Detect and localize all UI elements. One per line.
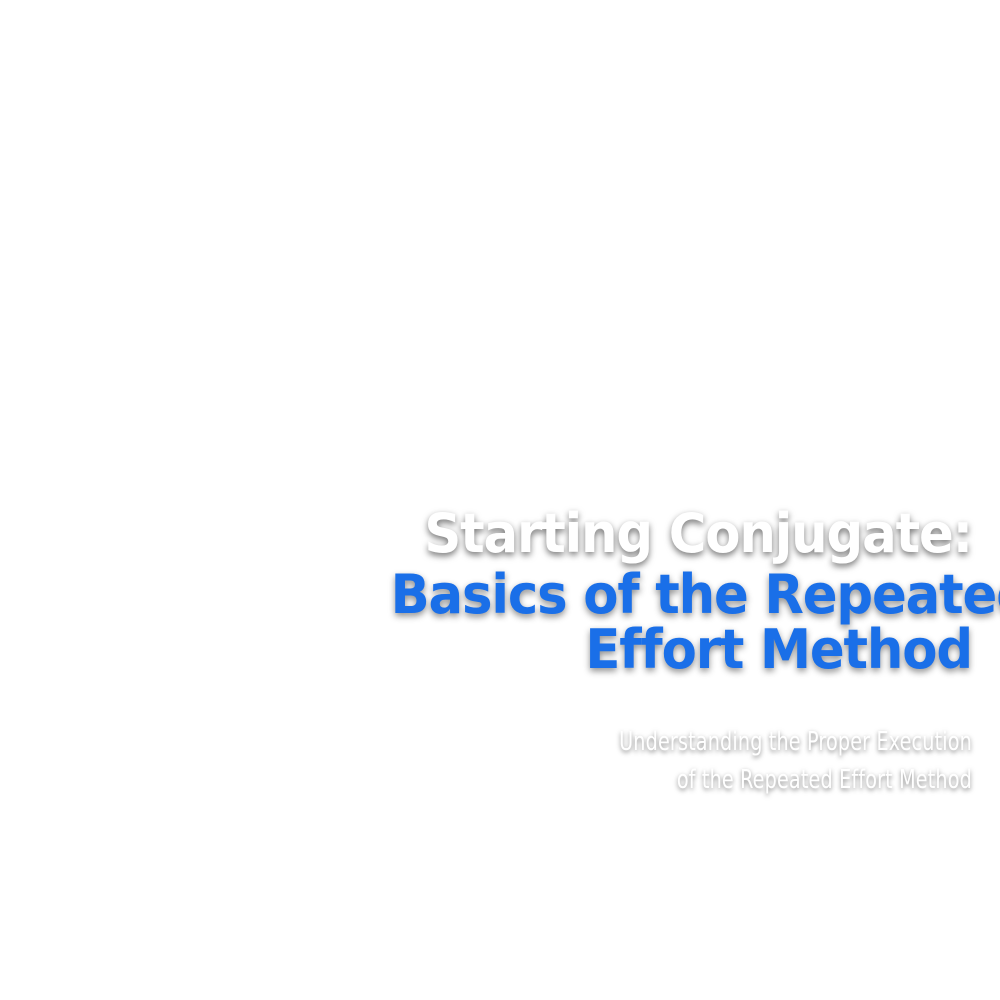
subtitle-line-1: Understanding the Proper Execution [536, 724, 972, 762]
subtitle-line-2: of the Repeated Effort Method [536, 762, 972, 800]
subtitle-group: Understanding the Proper Execution of th… [440, 724, 972, 799]
title-line-2: Basics of the Repeated [391, 569, 972, 622]
white-bottom-triangle [0, 0, 1000, 1000]
title-line-1: Starting Conjugate: [391, 508, 972, 561]
title-line-3: Effort Method [391, 624, 972, 677]
poster-canvas: Starting Conjugate: Basics of the Repeat… [0, 0, 1000, 1000]
headline-group: Starting Conjugate: Basics of the Repeat… [360, 508, 972, 677]
